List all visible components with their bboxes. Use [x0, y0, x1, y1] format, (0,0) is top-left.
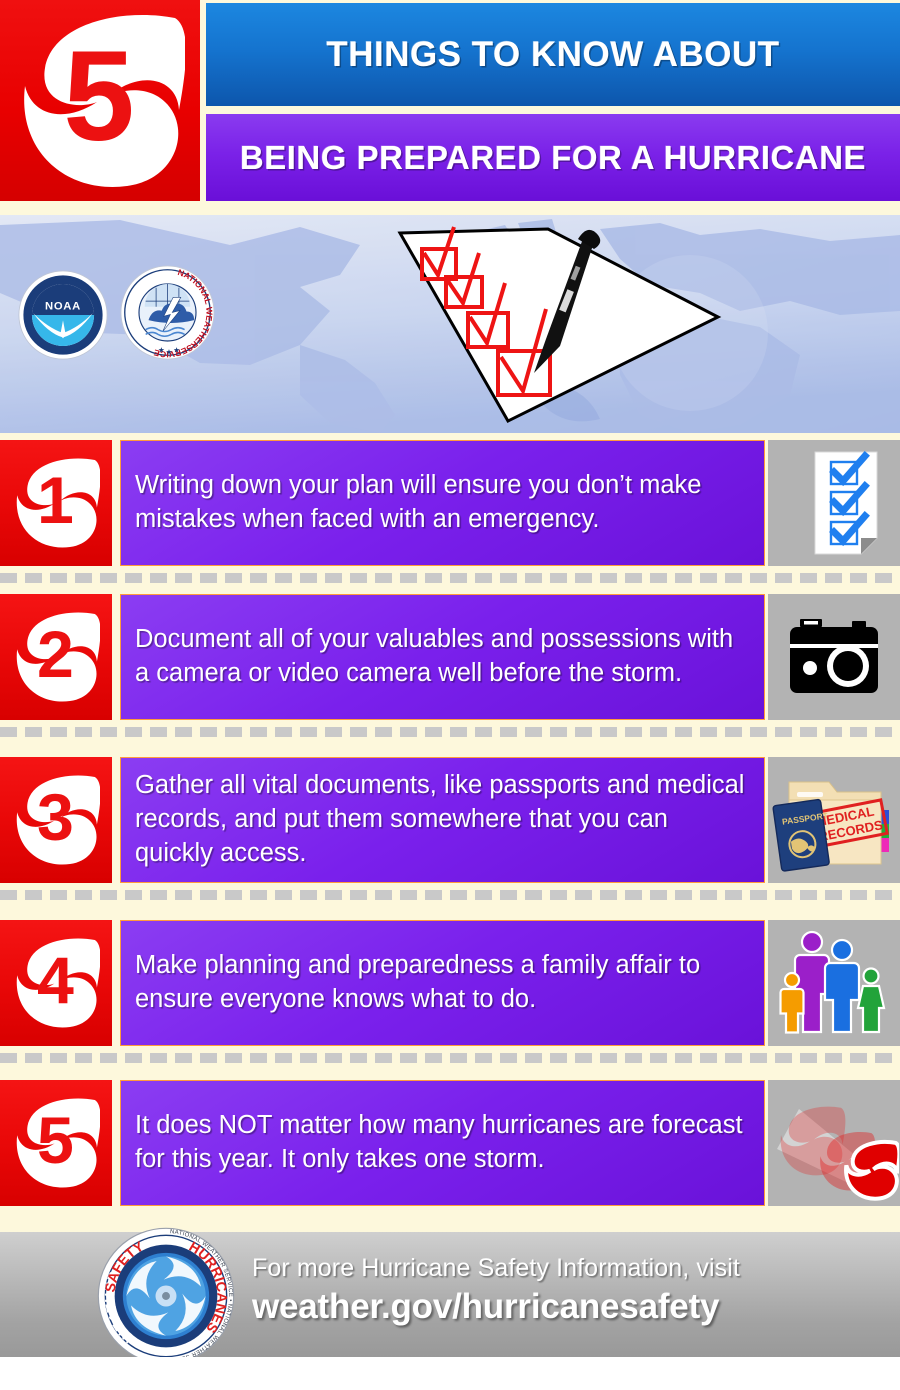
- family-group-icon: [778, 928, 890, 1038]
- svg-text:★: ★: [173, 345, 180, 354]
- tip-statement-bar-3: Gather all vital documents, like passpor…: [120, 757, 765, 883]
- tip-icon-block-4: [768, 920, 900, 1046]
- tip-icon-block-3: MEDICAL RECORDS PASSPORT: [768, 757, 900, 883]
- page-title-line1: THINGS TO KNOW ABOUT: [326, 35, 779, 75]
- tip-number-badge-3: 3: [0, 757, 112, 883]
- tip-icon-block-5: [768, 1080, 900, 1206]
- svg-text:★: ★: [166, 347, 173, 356]
- tip-number-1: 1: [37, 464, 74, 538]
- hurricane-symbol-icon: 5: [12, 1089, 100, 1197]
- hurricane-symbol-icon: 4: [12, 929, 100, 1037]
- hurricane-symbol-icon: 3: [12, 766, 100, 874]
- tip-icon-block-1: [768, 440, 900, 566]
- bottom-white-strip: [0, 1357, 900, 1390]
- row-divider-2: [0, 727, 900, 737]
- checklist-paper-icon: [779, 448, 889, 558]
- noaa-seal-center-text: NOAA: [45, 301, 81, 313]
- footer-prompt: For more Hurricane Safety Information, v…: [252, 1254, 740, 1283]
- tip-number-badge-4: 4: [0, 920, 112, 1046]
- tip-text-1: Writing down your plan will ensure you d…: [135, 469, 752, 537]
- row-divider-3: [0, 890, 900, 900]
- hurricane-symbol-icon: 1: [12, 449, 100, 557]
- row-divider-4: [0, 1053, 900, 1063]
- tip-row-4: 4 Make planning and preparedness a famil…: [0, 920, 900, 1046]
- tip-statement-bar-2: Document all of your valuables and posse…: [120, 594, 765, 720]
- row-divider-1: [0, 573, 900, 583]
- header: 5 THINGS TO KNOW ABOUT BEING PREPARED FO…: [0, 0, 900, 207]
- passport-and-medical-records-folder-icon: MEDICAL RECORDS PASSPORT: [771, 764, 897, 876]
- footer: WEATHER SAFETY HURRICANES NATIONAL WEATH…: [0, 1232, 900, 1357]
- tip-text-3: Gather all vital documents, like passpor…: [135, 769, 752, 871]
- hurricane-symbol-icon: 5: [15, 6, 185, 196]
- figure-child-green: [858, 969, 884, 1033]
- weather-safety-hurricanes-seal: WEATHER SAFETY HURRICANES NATIONAL WEATH…: [96, 1226, 236, 1366]
- tip-text-4: Make planning and preparedness a family …: [135, 949, 752, 1017]
- hurricane-spiral-graphic: [126, 1256, 205, 1335]
- tip-text-2: Document all of your valuables and posse…: [135, 623, 752, 691]
- tip-row-5: 5 It does NOT matter how many hurricanes…: [0, 1080, 900, 1206]
- title-bar-secondary: BEING PREPARED FOR A HURRICANE: [206, 114, 900, 201]
- noaa-seal: NOAA NATIONAL OCEANIC AND ATMOSPHERIC AD…: [18, 270, 108, 360]
- svg-text:★: ★: [158, 345, 165, 354]
- infographic-page: 5 THINGS TO KNOW ABOUT BEING PREPARED FO…: [0, 0, 900, 1390]
- hurricane-symbol-icon: 2: [12, 603, 100, 711]
- page-title-line2: BEING PREPARED FOR A HURRICANE: [240, 139, 866, 177]
- banner: NOAA NATIONAL OCEANIC AND ATMOSPHERIC AD…: [0, 215, 900, 433]
- tip-number-badge-2: 2: [0, 594, 112, 720]
- footer-text-block: For more Hurricane Safety Information, v…: [252, 1254, 740, 1327]
- national-weather-service-seal: NATIONAL WEATHER SERVICE ★ ★ ★: [120, 265, 215, 360]
- checklist-with-pen-icon: [388, 221, 728, 433]
- number-five-hurricane-badge: 5: [0, 0, 200, 201]
- title-bar-primary: THINGS TO KNOW ABOUT: [206, 3, 900, 106]
- badge-number: 5: [63, 25, 134, 168]
- tip-row-3: 3 Gather all vital documents, like passp…: [0, 757, 900, 883]
- tip-row-1: 1 Writing down your plan will ensure you…: [0, 440, 900, 566]
- tip-text-5: It does NOT matter how many hurricanes a…: [135, 1109, 752, 1177]
- tip-number-3: 3: [37, 781, 74, 855]
- family-figures: [781, 932, 885, 1033]
- tip-statement-bar-1: Writing down your plan will ensure you d…: [120, 440, 765, 566]
- tip-row-2: 2 Document all of your valuables and pos…: [0, 594, 900, 720]
- tip-number-4: 4: [37, 944, 74, 1018]
- tip-number-badge-5: 5: [0, 1080, 112, 1206]
- tip-number-5: 5: [37, 1104, 74, 1178]
- footer-url[interactable]: weather.gov/hurricanesafety: [252, 1287, 740, 1327]
- hurricane-forecast-cone-icon: [769, 1083, 899, 1203]
- tip-icon-block-2: [768, 594, 900, 720]
- figure-adult-blue: [825, 940, 859, 1032]
- tip-number-2: 2: [37, 618, 74, 692]
- tip-statement-bar-5: It does NOT matter how many hurricanes a…: [120, 1080, 765, 1206]
- camera-icon: [784, 616, 884, 698]
- tip-statement-bar-4: Make planning and preparedness a family …: [120, 920, 765, 1046]
- tip-number-badge-1: 1: [0, 440, 112, 566]
